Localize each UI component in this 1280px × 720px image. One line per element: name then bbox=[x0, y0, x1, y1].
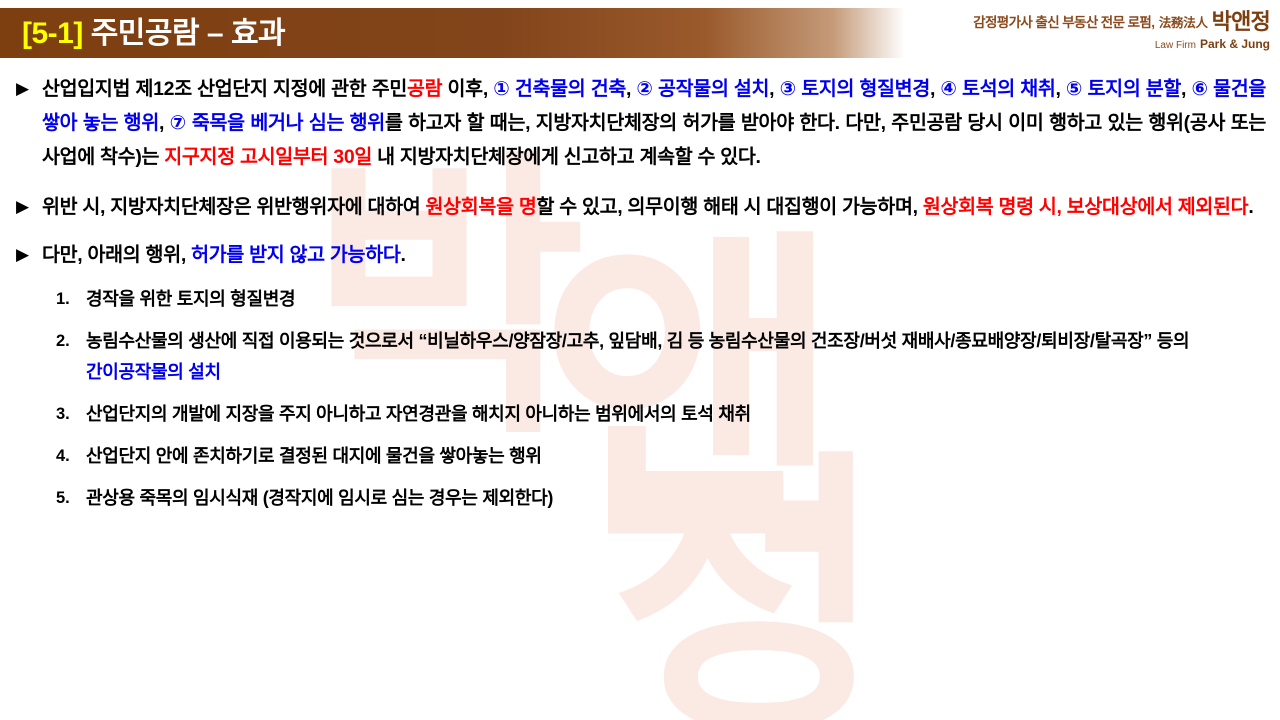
text-run-black: 산업단지 안에 존치하기로 결정된 대지에 물건을 쌓아놓는 행위 bbox=[86, 446, 542, 466]
text-run-blue: ① 건축물의 건축 bbox=[493, 78, 626, 100]
bullet-text-3: 다만, 아래의 행위, 허가를 받지 않고 가능하다. bbox=[42, 238, 1266, 272]
bullet-marker-icon: ▶ bbox=[16, 238, 42, 272]
list-item: 3. 산업단지의 개발에 지장을 주지 아니하고 자연경관을 해치지 아니하는 … bbox=[0, 399, 1280, 430]
text-run-black: . bbox=[400, 244, 405, 266]
list-item-text: 관상용 죽목의 임시식재 (경작지에 임시로 심는 경우는 제외한다) bbox=[86, 483, 1260, 514]
numbered-list: 1. 경작을 위한 토지의 형질변경 2. 농림수산물의 생산에 직접 이용되는… bbox=[0, 284, 1280, 514]
text-run-black: 내 지방자치단체장에게 신고하고 계속할 수 있다. bbox=[372, 146, 761, 168]
list-item-number: 4. bbox=[56, 441, 86, 472]
text-run-black: 이후, bbox=[442, 78, 493, 100]
text-run-red: 지구지정 고시일부터 30일 bbox=[164, 146, 372, 168]
list-item: 2. 농림수산물의 생산에 직접 이용되는 것으로서 “비닐하우스/양잠장/고추… bbox=[0, 326, 1280, 388]
page-title: [5-1] 주민공람 – 효과 bbox=[22, 8, 285, 52]
text-run-black: , bbox=[1181, 78, 1191, 100]
title-heading: 주민공람 – 효과 bbox=[91, 17, 285, 50]
text-run-black: 다만, 아래의 행위, bbox=[42, 244, 191, 266]
list-item-number: 2. bbox=[56, 326, 86, 357]
text-run-red: 원상회복 명령 시, 보상대상에서 제외된다 bbox=[923, 196, 1248, 218]
list-item: 1. 경작을 위한 토지의 형질변경 bbox=[0, 284, 1280, 315]
text-run-black: . bbox=[1248, 196, 1253, 218]
bullet-marker-icon: ▶ bbox=[16, 190, 42, 224]
text-run-red: 원상회복을 명 bbox=[426, 196, 537, 218]
list-item-number: 1. bbox=[56, 284, 86, 315]
list-item: 5. 관상용 죽목의 임시식재 (경작지에 임시로 심는 경우는 제외한다) bbox=[0, 483, 1280, 514]
text-run-blue: ⑤ 토지의 분할 bbox=[1066, 78, 1181, 100]
list-item-text: 농림수산물의 생산에 직접 이용되는 것으로서 “비닐하우스/양잠장/고추, 잎… bbox=[86, 326, 1260, 388]
logo-hanja: 法務法人 bbox=[1159, 16, 1208, 30]
text-run-black: 위반 시, 지방자치단체장은 위반행위자에 대하여 bbox=[42, 196, 426, 218]
bullet-text-2: 위반 시, 지방자치단체장은 위반행위자에 대하여 원상회복을 명할 수 있고,… bbox=[42, 190, 1266, 224]
text-run-black: 할 수 있고, 의무이행 해태 시 대집행이 가능하며, bbox=[536, 196, 922, 218]
list-item-text: 경작을 위한 토지의 형질변경 bbox=[86, 284, 1260, 315]
bullet-paragraph-2: ▶ 위반 시, 지방자치단체장은 위반행위자에 대하여 원상회복을 명할 수 있… bbox=[0, 190, 1280, 224]
text-run-blue: ③ 토지의 형질변경 bbox=[780, 78, 930, 100]
text-run-black: 산업입지법 제12조 산업단지 지정에 관한 주민 bbox=[42, 78, 407, 100]
bullet-paragraph-3: ▶ 다만, 아래의 행위, 허가를 받지 않고 가능하다. bbox=[0, 238, 1280, 272]
logo-secondary-line: Law FirmPark & Jung bbox=[973, 35, 1270, 53]
spacer-2 bbox=[0, 224, 1280, 238]
text-run-black: 농림수산물의 생산에 직접 이용되는 것으로서 “비닐하우스/양잠장/고추, 잎… bbox=[86, 331, 1189, 351]
list-item-number: 3. bbox=[56, 399, 86, 430]
text-run-blue: 간이공작물의 설치 bbox=[86, 362, 221, 382]
list-item-number: 5. bbox=[56, 483, 86, 514]
logo-firm-name-kr: 박앤정 bbox=[1212, 9, 1270, 34]
list-item-text: 산업단지의 개발에 지장을 주지 아니하고 자연경관을 해치지 아니하는 범위에… bbox=[86, 399, 1260, 430]
text-run-black: 산업단지의 개발에 지장을 주지 아니하고 자연경관을 해치지 아니하는 범위에… bbox=[86, 404, 751, 424]
logo-tagline: 감정평가사 출신 부동산 전문 로펌 bbox=[973, 15, 1151, 30]
text-run-black: , bbox=[1056, 78, 1066, 100]
text-run-black: , bbox=[159, 112, 170, 134]
bullet-marker-icon: ▶ bbox=[16, 72, 42, 106]
text-run-black: 관상용 죽목의 임시식재 (경작지에 임시로 심는 경우는 제외한다) bbox=[86, 488, 553, 508]
slide-canvas: 박 앤 정 [5-1] 주민공람 – 효과 감정평가사 출신 부동산 전문 로펌… bbox=[0, 0, 1280, 720]
text-run-blue: 허가를 받지 않고 가능하다 bbox=[191, 244, 400, 266]
text-run-black: , bbox=[626, 78, 636, 100]
logo-comma: , bbox=[1151, 15, 1154, 30]
logo-primary-line: 감정평가사 출신 부동산 전문 로펌, 法務法人박앤정 bbox=[973, 10, 1270, 34]
bullet-paragraph-1: ▶ 산업입지법 제12조 산업단지 지정에 관한 주민공람 이후, ① 건축물의… bbox=[0, 72, 1280, 174]
text-run-black: , bbox=[930, 78, 940, 100]
slide-body: ▶ 산업입지법 제12조 산업단지 지정에 관한 주민공람 이후, ① 건축물의… bbox=[0, 72, 1280, 525]
text-run-black: , bbox=[769, 78, 779, 100]
bullet-text-1: 산업입지법 제12조 산업단지 지정에 관한 주민공람 이후, ① 건축물의 건… bbox=[42, 72, 1266, 174]
spacer-1 bbox=[0, 174, 1280, 190]
text-run-red: 공람 bbox=[407, 78, 442, 100]
logo-law-firm-label: Law Firm bbox=[1155, 40, 1196, 51]
text-run-black: 경작을 위한 토지의 형질변경 bbox=[86, 289, 295, 309]
title-section-number: [5-1] bbox=[22, 17, 83, 50]
firm-logo: 감정평가사 출신 부동산 전문 로펌, 法務法人박앤정 Law FirmPark… bbox=[973, 10, 1270, 53]
text-run-blue: ④ 토석의 채취 bbox=[940, 78, 1055, 100]
text-run-blue: ② 공작물의 설치 bbox=[636, 78, 769, 100]
text-run-blue: ⑦ 죽목을 베거나 심는 행위 bbox=[170, 112, 385, 134]
list-item-text: 산업단지 안에 존치하기로 결정된 대지에 물건을 쌓아놓는 행위 bbox=[86, 441, 1260, 472]
list-item: 4. 산업단지 안에 존치하기로 결정된 대지에 물건을 쌓아놓는 행위 bbox=[0, 441, 1280, 472]
logo-firm-name-en: Park & Jung bbox=[1200, 37, 1270, 51]
